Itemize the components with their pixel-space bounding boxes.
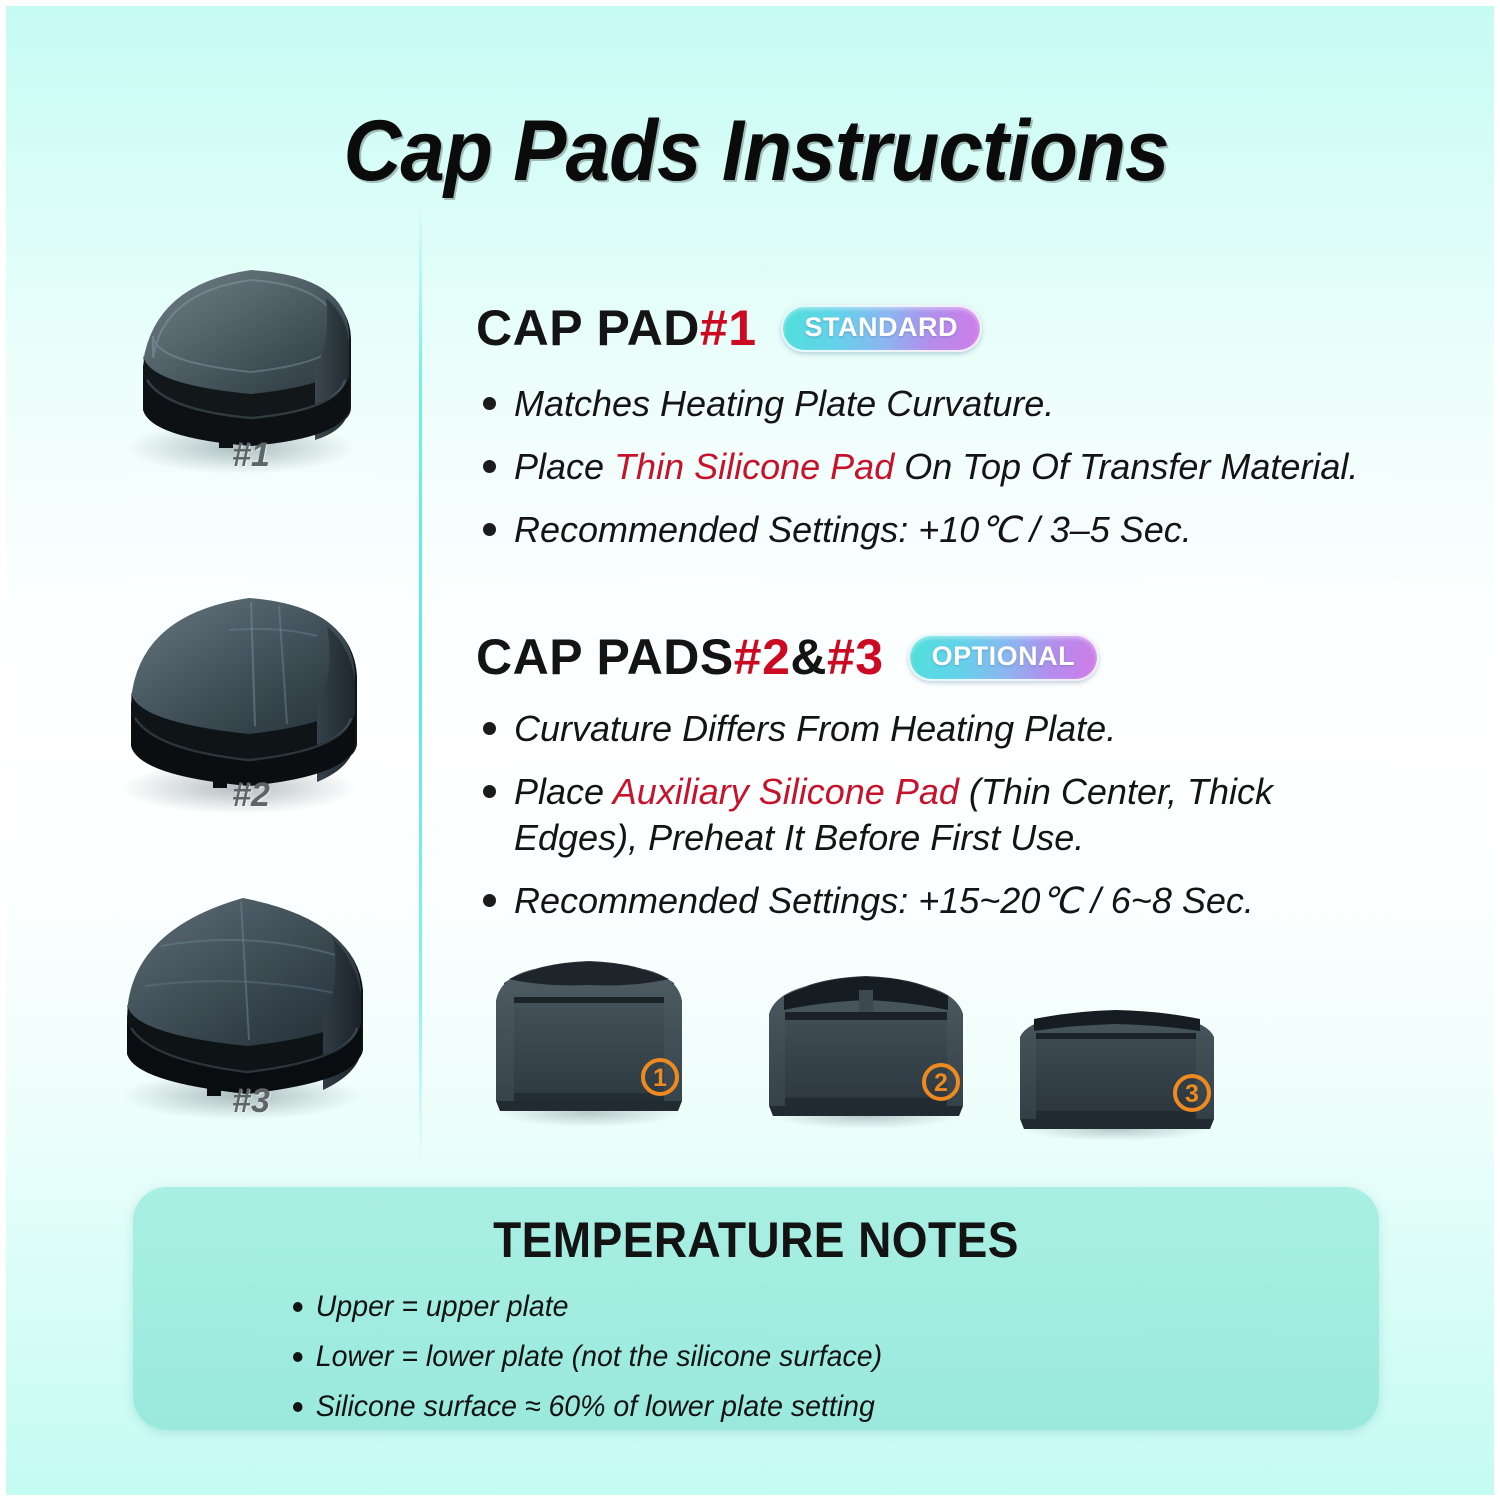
front-view-marker-text: 2 bbox=[934, 1069, 948, 1097]
badge-standard: STANDARD bbox=[781, 305, 983, 352]
badge-optional: OPTIONAL bbox=[908, 634, 1100, 681]
cap-pad-2-render: #2 bbox=[101, 592, 401, 842]
bullet-dot-icon bbox=[293, 1352, 303, 1362]
front-view-marker-text: 1 bbox=[653, 1064, 667, 1092]
product-label: #2 bbox=[101, 776, 401, 815]
list-item-text: Place Thin Silicone Pad On Top Of Transf… bbox=[514, 444, 1376, 490]
section-2-ampersand: & bbox=[790, 628, 827, 686]
highlight-text: Thin Silicone Pad bbox=[614, 446, 894, 487]
list-item: Recommended Settings: +15~20℃ / 6~8 Sec. bbox=[476, 878, 1376, 924]
front-view-pad-3: 3 bbox=[1004, 981, 1234, 1156]
list-item: Upper = upper plate bbox=[293, 1289, 1325, 1325]
bullet-dot-icon bbox=[293, 1302, 303, 1312]
section-2-number-first: #2 bbox=[734, 628, 791, 686]
list-item-text: Upper = upper plate bbox=[316, 1289, 569, 1325]
product-label: #1 bbox=[101, 436, 401, 475]
bullet-dot-icon bbox=[293, 1402, 303, 1412]
list-item-text: Place Auxiliary Silicone Pad (Thin Cente… bbox=[514, 769, 1376, 861]
highlight-text: Auxiliary Silicone Pad bbox=[613, 771, 959, 812]
vertical-divider bbox=[419, 202, 422, 1162]
front-view-marker-text: 3 bbox=[1185, 1080, 1199, 1108]
list-item-text: Recommended Settings: +10℃ / 3–5 Sec. bbox=[514, 507, 1376, 553]
list-item-text: Matches Heating Plate Curvature. bbox=[514, 381, 1376, 427]
cap-pad-1-render: #1 bbox=[101, 258, 401, 508]
cap-pad-3-render: #3 bbox=[101, 894, 401, 1144]
temperature-notes-title: TEMPERATURE NOTES bbox=[183, 1211, 1329, 1269]
bullet-dot-icon bbox=[483, 460, 496, 473]
section-1-number: #1 bbox=[700, 299, 757, 357]
section-2-bullet-list: Curvature Differs From Heating Plate. Pl… bbox=[476, 706, 1376, 941]
poster-canvas: Cap Pads Instructions bbox=[0, 0, 1500, 1501]
section-2-heading: CAP PADS #2 & #3 OPTIONAL bbox=[476, 628, 1099, 686]
list-item-text: Curvature Differs From Heating Plate. bbox=[514, 706, 1376, 752]
section-2-title: CAP PADS bbox=[476, 628, 734, 686]
bullet-dot-icon bbox=[483, 397, 496, 410]
list-item: Matches Heating Plate Curvature. bbox=[476, 381, 1376, 427]
section-1-heading: CAP PAD #1 STANDARD bbox=[476, 299, 982, 357]
list-item-text: Silicone surface ≈ 60% of lower plate se… bbox=[316, 1389, 875, 1425]
list-item: Recommended Settings: +10℃ / 3–5 Sec. bbox=[476, 507, 1376, 553]
bullet-dot-icon bbox=[483, 523, 496, 536]
list-item: Lower = lower plate (not the silicone su… bbox=[293, 1339, 1325, 1375]
list-item: Silicone surface ≈ 60% of lower plate se… bbox=[293, 1389, 1325, 1425]
front-view-pad-1: 1 bbox=[474, 961, 704, 1136]
bullet-dot-icon bbox=[483, 894, 496, 907]
front-view-pad-2: 2 bbox=[751, 966, 981, 1141]
bullet-dot-icon bbox=[483, 722, 496, 735]
section-1-bullet-list: Matches Heating Plate Curvature. Place T… bbox=[476, 381, 1376, 570]
bullet-dot-icon bbox=[483, 785, 496, 798]
section-2-number-second: #3 bbox=[827, 628, 884, 686]
list-item-text: Lower = lower plate (not the silicone su… bbox=[316, 1339, 882, 1375]
section-1-title: CAP PAD bbox=[476, 299, 700, 357]
temperature-notes-box: TEMPERATURE NOTES Upper = upper plate Lo… bbox=[133, 1187, 1379, 1430]
page-title: Cap Pads Instructions bbox=[59, 102, 1454, 201]
product-label: #3 bbox=[101, 1082, 401, 1121]
list-item: Curvature Differs From Heating Plate. bbox=[476, 706, 1376, 752]
temperature-notes-list: Upper = upper plate Lower = lower plate … bbox=[293, 1289, 1379, 1425]
list-item: Place Auxiliary Silicone Pad (Thin Cente… bbox=[476, 769, 1376, 861]
list-item: Place Thin Silicone Pad On Top Of Transf… bbox=[476, 444, 1376, 490]
list-item-text: Recommended Settings: +15~20℃ / 6~8 Sec. bbox=[514, 878, 1376, 924]
